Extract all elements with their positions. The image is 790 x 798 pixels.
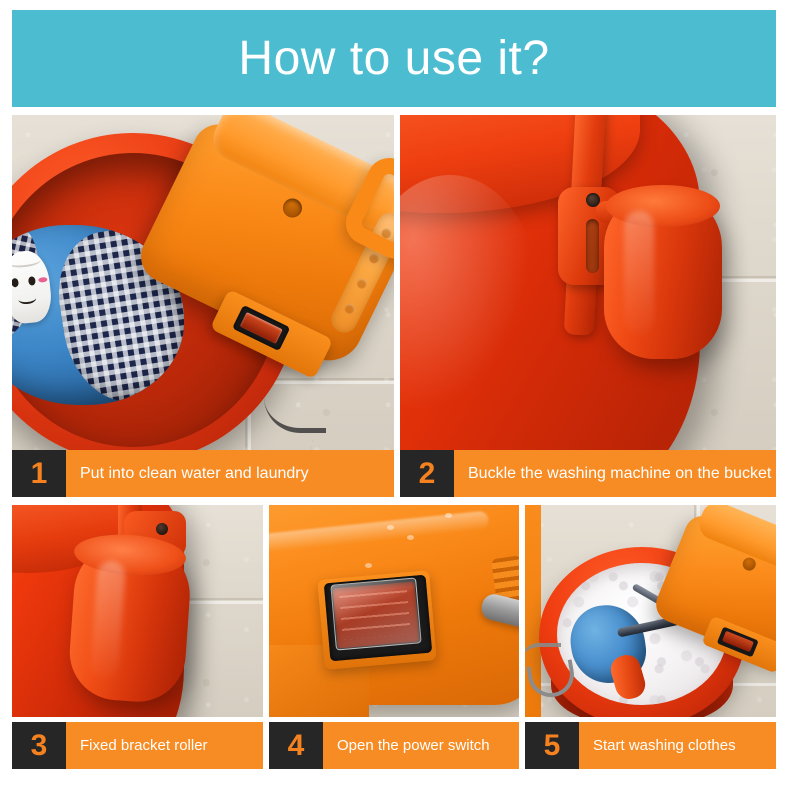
vent-hole [367, 252, 380, 265]
step-2-number: 2 [419, 459, 436, 489]
page-title: How to use it? [238, 35, 549, 83]
power-switch [717, 626, 759, 657]
step-5-text-bar: Start washing clothes [579, 722, 776, 769]
step-2-photo [400, 115, 776, 455]
printed-face-motif [12, 249, 54, 325]
step-1-text-bar: Put into clean water and laundry [66, 450, 394, 497]
step-3-image [12, 505, 263, 717]
step-4-photo [269, 505, 519, 717]
step-3-label: Fixed bracket roller [80, 738, 208, 753]
face-mouth [18, 292, 37, 305]
step-5-number: 5 [544, 731, 561, 761]
step-5-image [525, 505, 776, 717]
water-droplet [445, 513, 452, 518]
step-4-text-bar: Open the power switch [323, 722, 519, 769]
step-2-caption: 2 Buckle the washing machine on the buck… [400, 450, 776, 497]
step-3-caption: 3 Fixed bracket roller [12, 722, 263, 769]
water-droplet [387, 525, 394, 530]
step-5-photo [525, 505, 776, 717]
step-4-number: 4 [288, 731, 305, 761]
step-1-number-box: 1 [12, 450, 66, 497]
step-1-number: 1 [31, 459, 48, 489]
bracket-roller-top [606, 185, 720, 227]
water-droplet [365, 563, 372, 568]
switch-splash-cover [330, 577, 421, 650]
step-1-photo [12, 115, 394, 455]
face-eye-right [28, 276, 36, 286]
vent-hole [355, 277, 368, 290]
step-3-number-box: 3 [12, 722, 66, 769]
power-cord-left [525, 643, 561, 661]
step-5-label: Start washing clothes [593, 738, 736, 753]
step-5-caption: 5 Start washing clothes [525, 722, 776, 769]
bracket-roller-highlight [624, 211, 654, 335]
step-1-image [12, 115, 394, 455]
step-4-caption: 4 Open the power switch [269, 722, 519, 769]
step-2-label: Buckle the washing machine on the bucket [468, 466, 771, 482]
face-eye-left [12, 278, 19, 288]
power-cord [310, 411, 394, 455]
step-4-image [269, 505, 519, 717]
step-2-text-bar: Buckle the washing machine on the bucket [454, 450, 776, 497]
step-3-text-bar: Fixed bracket roller [66, 722, 263, 769]
step-1-label: Put into clean water and laundry [80, 466, 309, 482]
header-band: How to use it? [12, 10, 776, 107]
step-5-number-box: 5 [525, 722, 579, 769]
clamp-slot [586, 219, 599, 273]
step-4-number-box: 4 [269, 722, 323, 769]
step-2-image [400, 115, 776, 455]
step-4-label: Open the power switch [337, 738, 490, 753]
face-hair [12, 253, 42, 268]
step-1-caption: 1 Put into clean water and laundry [12, 450, 394, 497]
face-cheek-right [38, 277, 47, 283]
step-2-number-box: 2 [400, 450, 454, 497]
step-3-photo [12, 505, 263, 717]
vent-hole [343, 302, 356, 315]
how-to-use-infographic: How to use it? [0, 0, 790, 798]
water-droplet [407, 535, 414, 540]
bracket-pin-screw [156, 523, 168, 535]
step-3-number: 3 [31, 731, 48, 761]
